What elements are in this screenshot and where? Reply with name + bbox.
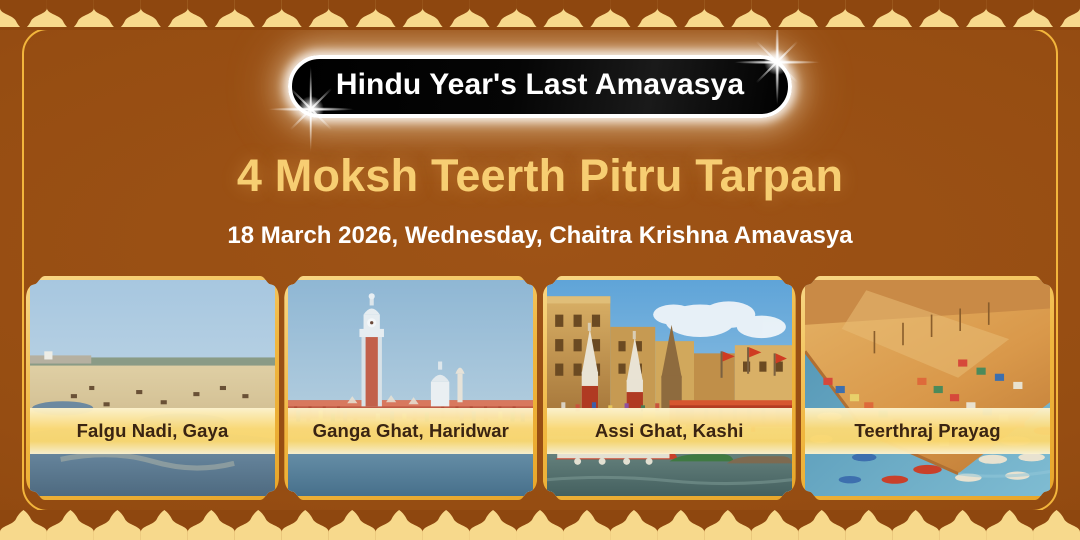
card-caption: Ganga Ghat, Haridwar (288, 408, 533, 454)
bottom-ornament-band (0, 510, 1080, 540)
badge-container: Hindu Year's Last Amavasya (0, 55, 1080, 118)
card-image-frame: Ganga Ghat, Haridwar (288, 280, 533, 496)
haridwar-clock-tower-ghat-photo (288, 280, 533, 496)
teerth-card[interactable]: Ganga Ghat, Haridwar (284, 276, 537, 500)
falgu-river-sandbed-photo (30, 280, 275, 496)
page-subtitle: 18 March 2026, Wednesday, Chaitra Krishn… (0, 222, 1080, 250)
teerth-card-row: Falgu Nadi, Gaya (26, 276, 1054, 500)
sparkle-icon-top-right (732, 17, 822, 107)
badge-label: Hindu Year's Last Amavasya (336, 68, 744, 101)
top-ornament-band (0, 0, 1080, 30)
card-caption: Falgu Nadi, Gaya (30, 408, 275, 454)
teerth-card[interactable]: Teerthraj Prayag (801, 276, 1054, 500)
card-image-frame: Assi Ghat, Kashi (547, 280, 792, 496)
teerth-card[interactable]: Falgu Nadi, Gaya (26, 276, 279, 500)
teerth-card[interactable]: Assi Ghat, Kashi (543, 276, 796, 500)
prayagraj-sangam-aerial-photo (805, 280, 1050, 496)
page-title: 4 Moksh Teerth Pitru Tarpan (0, 150, 1080, 202)
poster-canvas: Hindu Year's Last Amavasya 4 Moksh Teert… (0, 0, 1080, 540)
headline-badge: Hindu Year's Last Amavasya (288, 55, 792, 118)
assi-ghat-varanasi-photo (547, 280, 792, 496)
card-image-frame: Teerthraj Prayag (805, 280, 1050, 496)
card-image-frame: Falgu Nadi, Gaya (30, 280, 275, 496)
card-caption: Assi Ghat, Kashi (547, 408, 792, 454)
card-caption: Teerthraj Prayag (805, 408, 1050, 454)
